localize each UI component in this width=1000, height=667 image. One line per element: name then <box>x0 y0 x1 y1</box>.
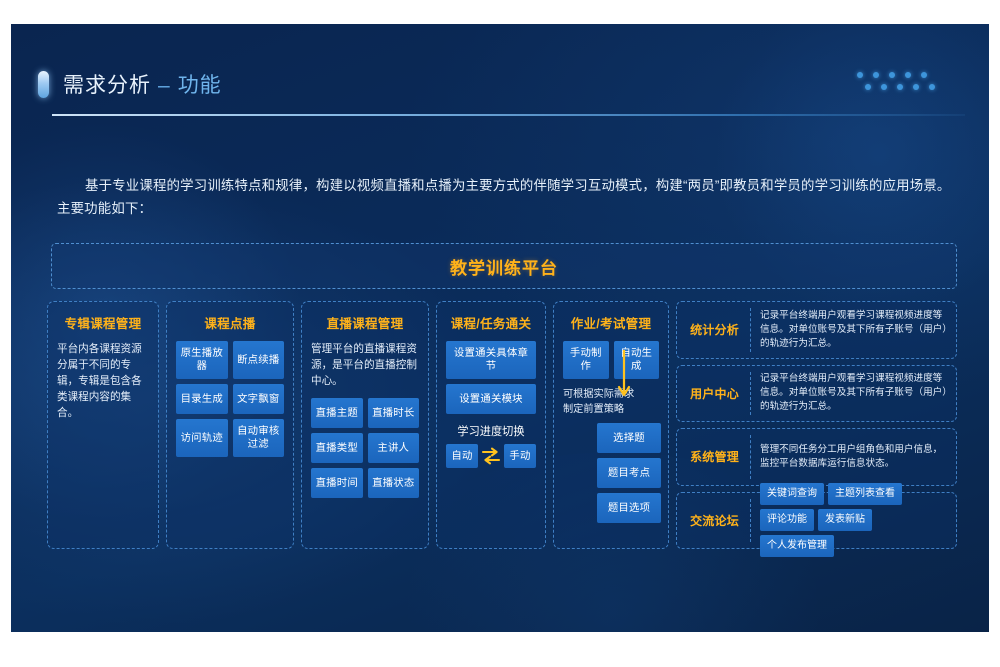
feature-column-live-course-management: 直播课程管理 管理平台的直播课程资源，是平台的直播控制中心。 直播主题 直播时长… <box>301 301 429 549</box>
forum-tag[interactable]: 个人发布管理 <box>760 535 834 557</box>
feature-button[interactable]: 题目选项 <box>597 493 661 523</box>
feature-button[interactable]: 自动审核过滤 <box>233 419 285 457</box>
feature-column-course-task-clearance: 课程/任务通关 设置通关具体章节 设置通关模块 学习进度切换 自动 手动 <box>436 301 546 549</box>
right-row-label: 用户中心 <box>685 372 751 416</box>
right-row-description: 记录平台终端用户观看学习课程视频进度等信息。对单位账号及其下所有子账号（用户）的… <box>751 308 948 352</box>
forum-tag[interactable]: 发表新贴 <box>818 509 872 531</box>
feature-button[interactable]: 直播时间 <box>311 468 363 498</box>
progress-switch-label: 学习进度切换 <box>446 423 536 439</box>
column-top-button-grid: 手动制作 自动生成 <box>563 341 659 379</box>
header-divider <box>52 114 965 116</box>
column-description: 管理平台的直播课程资源，是平台的直播控制中心。 <box>311 341 419 389</box>
pill-bullet-icon <box>38 71 49 98</box>
right-row-tag-list: 关键词查询 主题列表查看 评论功能 发表新贴 个人发布管理 <box>751 499 948 543</box>
slide-canvas: 需求分析–功能 基于专业课程的学习训练特点和规律，构建以视频直播和点播为主要方式… <box>11 24 989 632</box>
arrow-down-icon <box>616 350 632 402</box>
right-feature-stack: 统计分析 记录平台终端用户观看学习课程视频进度等信息。对单位账号及其下所有子账号… <box>676 301 957 549</box>
feature-column-course-on-demand: 课程点播 原生播放器 断点续播 目录生成 文字飘窗 访问轨迹 自动审核过滤 <box>166 301 294 549</box>
feature-column-homework-exam-management: 作业/考试管理 手动制作 自动生成 可根据实际需求制定前置策略 选择题 题目考点… <box>553 301 669 549</box>
feature-button[interactable]: 题目考点 <box>597 458 661 488</box>
switch-manual-button[interactable]: 手动 <box>504 444 536 468</box>
column-title: 专辑课程管理 <box>57 313 149 332</box>
column-title: 直播课程管理 <box>311 313 419 332</box>
feature-button[interactable]: 目录生成 <box>176 384 228 414</box>
column-description: 平台内各课程资源分属于不同的专辑，专辑是包含各类课程内容的集合。 <box>57 341 149 421</box>
right-row-forum: 交流论坛 关键词查询 主题列表查看 评论功能 发表新贴 个人发布管理 <box>676 492 957 550</box>
right-row-system-management: 系统管理 管理不同任务分工用户组角色和用户信息，监控平台数据库运行信息状态。 <box>676 428 957 486</box>
right-row-label: 统计分析 <box>685 308 751 352</box>
switch-auto-button[interactable]: 自动 <box>446 444 478 468</box>
column-title: 课程点播 <box>176 313 284 332</box>
feature-button[interactable]: 文字飘窗 <box>233 384 285 414</box>
right-row-description: 管理不同任务分工用户组角色和用户信息，监控平台数据库运行信息状态。 <box>751 435 948 479</box>
feature-button[interactable]: 手动制作 <box>563 341 609 379</box>
column-title: 作业/考试管理 <box>563 313 659 332</box>
page-title-main: 需求分析 <box>63 74 151 97</box>
forum-tag[interactable]: 评论功能 <box>760 509 814 531</box>
decorative-dot-grid-icon <box>857 70 947 96</box>
page-title-sub: 功能 <box>178 74 222 97</box>
feature-button[interactable]: 选择题 <box>597 423 661 453</box>
feature-button[interactable]: 直播主题 <box>311 398 363 428</box>
feature-grid: 专辑课程管理 平台内各课程资源分属于不同的专辑，专辑是包含各类课程内容的集合。 … <box>47 301 957 549</box>
column-bottom-button-grid: 选择题 题目考点 题目选项 <box>597 423 661 523</box>
intro-paragraph: 基于专业课程的学习训练特点和规律，构建以视频直播和点播为主要方式的伴随学习互动模… <box>57 174 951 220</box>
feature-button[interactable]: 原生播放器 <box>176 341 228 379</box>
forum-tag[interactable]: 关键词查询 <box>760 483 824 505</box>
feature-button[interactable]: 直播类型 <box>311 433 363 463</box>
column-button-grid: 直播主题 直播时长 直播类型 主讲人 直播时间 直播状态 <box>311 398 419 498</box>
right-row-description: 记录平台终端用户观看学习课程视频进度等信息。对单位账号及其下所有子账号（用户）的… <box>751 372 948 416</box>
right-row-user-center: 用户中心 记录平台终端用户观看学习课程视频进度等信息。对单位账号及其下所有子账号… <box>676 365 957 423</box>
page-title-dash: – <box>158 74 171 97</box>
feature-button[interactable]: 直播状态 <box>368 468 420 498</box>
right-row-statistics: 统计分析 记录平台终端用户观看学习课程视频进度等信息。对单位账号及其下所有子账号… <box>676 301 957 359</box>
swap-arrows-icon <box>480 445 502 467</box>
column-button-grid: 设置通关具体章节 设置通关模块 <box>446 341 536 414</box>
feature-button[interactable]: 设置通关模块 <box>446 384 536 414</box>
forum-tag[interactable]: 主题列表查看 <box>828 483 902 505</box>
feature-column-album-course-management: 专辑课程管理 平台内各课程资源分属于不同的专辑，专辑是包含各类课程内容的集合。 <box>47 301 159 549</box>
feature-button[interactable]: 设置通关具体章节 <box>446 341 536 379</box>
platform-banner-title: 教学训练平台 <box>450 254 558 279</box>
feature-button[interactable]: 主讲人 <box>368 433 420 463</box>
slide-header: 需求分析–功能 <box>38 62 965 124</box>
column-button-grid: 原生播放器 断点续播 目录生成 文字飘窗 访问轨迹 自动审核过滤 <box>176 341 284 457</box>
progress-switch[interactable]: 自动 手动 <box>446 444 536 468</box>
platform-banner: 教学训练平台 <box>51 243 957 289</box>
right-row-label: 系统管理 <box>685 435 751 479</box>
feature-button[interactable]: 访问轨迹 <box>176 419 228 457</box>
feature-button[interactable]: 直播时长 <box>368 398 420 428</box>
column-title: 课程/任务通关 <box>446 313 536 332</box>
feature-button[interactable]: 断点续播 <box>233 341 285 379</box>
right-row-label: 交流论坛 <box>685 499 751 543</box>
page-title: 需求分析–功能 <box>63 69 222 99</box>
